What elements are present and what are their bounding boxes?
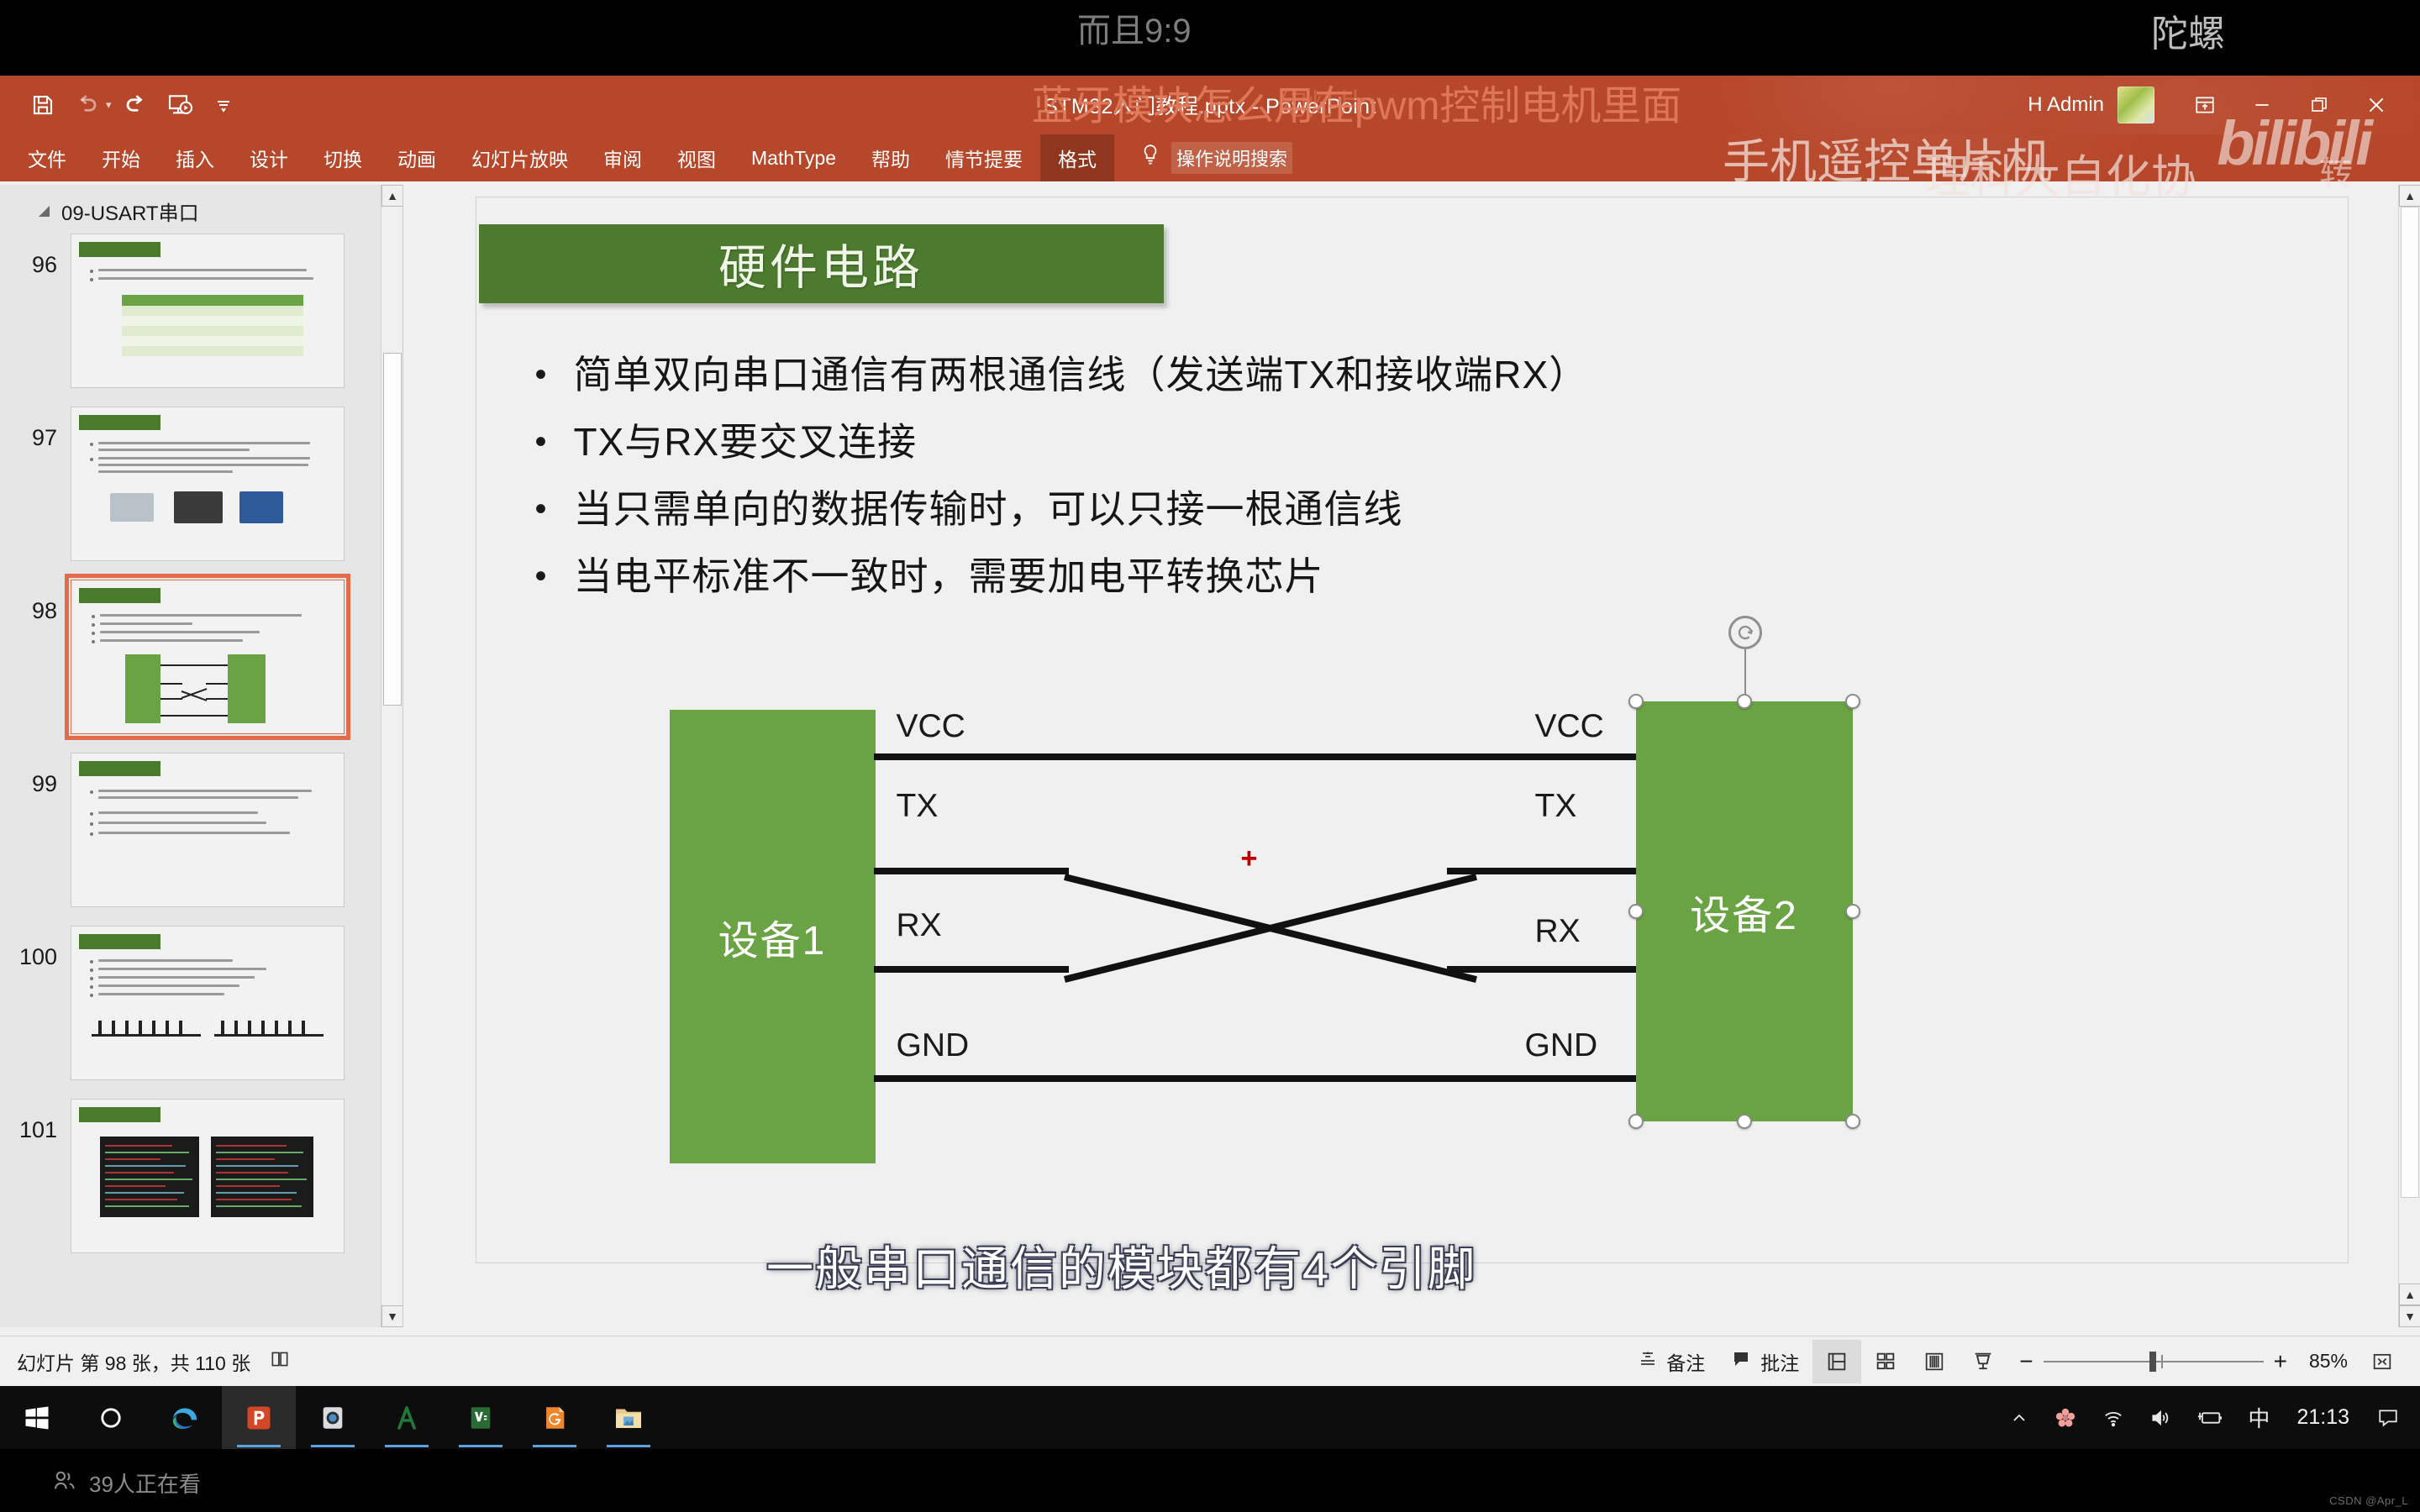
bullet-text: 简单双向串口通信有两根通信线（发送端TX和接收端RX）	[574, 349, 1589, 401]
danmaku-comment-1: 而且9:9	[1077, 3, 1192, 52]
comments-button[interactable]: 批注	[1718, 1340, 1812, 1383]
fit-to-window-button[interactable]	[2358, 1340, 2407, 1383]
cursor-crosshair-icon: +	[1241, 843, 1258, 875]
tell-me-label: 操作说明搜索	[1171, 142, 1292, 174]
slide-body-text[interactable]: • 简单双向串口通信有两根通信线（发送端TX和接收端RX） • TX与RX要交叉…	[535, 349, 2258, 617]
viewer-count-label: 39人正在看	[89, 1467, 201, 1499]
slide-thumbnail-101[interactable]	[71, 1099, 345, 1253]
slide-number: 101	[0, 1099, 71, 1143]
resize-handle-l[interactable]	[1628, 904, 1644, 919]
customize-qat-icon[interactable]	[204, 86, 243, 124]
danmaku-comment-4: 幻灯片	[1277, 81, 1368, 124]
bullet-item: • 简单双向串口通信有两根通信线（发送端TX和接收端RX）	[535, 349, 2258, 401]
rotate-handle[interactable]	[1728, 616, 1762, 649]
save-icon[interactable]	[24, 86, 62, 124]
running-indicator	[533, 1445, 576, 1447]
zoom-level-label[interactable]: 85%	[2299, 1350, 2358, 1373]
scroll-down-button[interactable]: ▼	[381, 1305, 403, 1327]
device-2-shape[interactable]: 设备2	[1636, 701, 1853, 1121]
resize-handle-t[interactable]	[1737, 694, 1752, 709]
slide-thumbnail-98[interactable]	[71, 580, 345, 734]
section-header[interactable]: 09-USART串口	[0, 185, 402, 233]
next-slide-button[interactable]: ▼	[2399, 1305, 2420, 1327]
slide-sorter-view-button[interactable]	[1861, 1340, 1910, 1383]
gif-app-icon[interactable]	[518, 1386, 592, 1449]
camera-app-icon[interactable]	[296, 1386, 370, 1449]
resize-handle-r[interactable]	[1845, 904, 1860, 919]
slide-editing-pane: 硬件电路 • 简单双向串口通信有两根通信线（发送端TX和接收端RX） • TX与…	[403, 185, 2420, 1327]
tab-file[interactable]: 文件	[10, 134, 84, 181]
start-slideshow-icon[interactable]	[160, 86, 199, 124]
slide-thumbnail-99[interactable]	[71, 753, 345, 907]
corner-watermark: CSDN @Apr_L	[2329, 1494, 2408, 1507]
scrollbar-thumb[interactable]	[383, 353, 402, 706]
slide-number: 98	[0, 580, 71, 624]
danmaku-comment-6: 理科大自化协	[1924, 139, 2196, 206]
tab-home[interactable]: 开始	[84, 134, 158, 181]
slide-canvas[interactable]: 硬件电路 • 简单双向串口通信有两根通信线（发送端TX和接收端RX） • TX与…	[476, 197, 2349, 1263]
list-item[interactable]: 99	[0, 753, 378, 907]
battery-charging-icon[interactable]	[2184, 1386, 2236, 1449]
pin-label-gnd-left: GND	[897, 1027, 970, 1064]
comment-icon	[1732, 1349, 1752, 1374]
undo-dropdown-icon[interactable]: ▾	[106, 98, 112, 112]
thumbnail-scrollbar[interactable]: ▲ ▼	[381, 185, 402, 1327]
tab-design[interactable]: 设计	[232, 134, 306, 181]
danmaku-comment-2: 陀螺	[2151, 3, 2225, 57]
running-indicator	[607, 1445, 650, 1447]
tell-me-search[interactable]: 操作说明搜索	[1114, 134, 1307, 181]
wire-rx-left	[874, 966, 1069, 973]
crossed-wires	[1065, 874, 1434, 1021]
resize-handle-b[interactable]	[1737, 1114, 1752, 1129]
slide-title-text: 硬件电路	[718, 229, 923, 298]
start-button[interactable]	[0, 1386, 74, 1449]
visio-app-icon[interactable]	[444, 1386, 518, 1449]
slide-counter: 幻灯片 第 98 张，共 110 张	[17, 1347, 250, 1376]
wire-gnd	[874, 1075, 1644, 1082]
resize-handle-br[interactable]	[1845, 1114, 1860, 1129]
tab-animations[interactable]: 动画	[380, 134, 454, 181]
previous-slide-button[interactable]: ▲	[2399, 1284, 2420, 1305]
slide-number: 100	[0, 926, 71, 970]
slide-thumbnail-96[interactable]	[71, 234, 345, 388]
zoom-out-button[interactable]: −	[2019, 1348, 2033, 1375]
pin-label-rx-right: RX	[1535, 913, 1581, 950]
action-center-icon[interactable]	[2365, 1386, 2412, 1449]
tab-help[interactable]: 帮助	[854, 134, 928, 181]
slide-thumbnail-97[interactable]	[71, 407, 345, 561]
running-indicator	[459, 1445, 502, 1447]
device-1-label: 设备1	[718, 907, 827, 966]
slide-thumbnail-pane[interactable]: 09-USART串口 96	[0, 185, 403, 1327]
list-item[interactable]: 101	[0, 1099, 378, 1253]
slide-number: 97	[0, 407, 71, 451]
cortana-search-button[interactable]	[74, 1386, 148, 1449]
status-bar-right: 备注 批注	[1624, 1340, 2420, 1383]
device-1-shape[interactable]: 设备1	[670, 710, 876, 1163]
bullet-marker: •	[535, 483, 574, 535]
people-icon	[52, 1469, 77, 1497]
video-subtitle: 一般串口通信的模块都有4个引脚	[766, 1231, 1476, 1299]
tab-slideshow[interactable]: 幻灯片放映	[454, 134, 586, 181]
tab-format[interactable]: 格式	[1040, 134, 1114, 181]
section-collapse-icon[interactable]	[39, 206, 50, 217]
wire-tx-right	[1447, 868, 1644, 874]
taskbar-items	[0, 1386, 665, 1449]
reading-view-button[interactable]	[1910, 1340, 1959, 1383]
slide-number: 99	[0, 753, 71, 797]
pin-label-vcc-left: VCC	[897, 708, 965, 745]
bullet-marker: •	[535, 416, 574, 468]
slideshow-view-button[interactable]	[1959, 1340, 2007, 1383]
tab-mathtype[interactable]: MathType	[734, 134, 854, 181]
avatar[interactable]	[2117, 87, 2154, 123]
list-item[interactable]: 97	[0, 407, 378, 561]
section-name: 09-USART串口	[61, 197, 199, 226]
comments-label: 批注	[1760, 1347, 1799, 1376]
wire-tx-left	[874, 868, 1069, 874]
tab-review[interactable]: 审阅	[586, 134, 660, 181]
list-item[interactable]: 98	[0, 580, 378, 734]
tab-storyboard[interactable]: 情节提要	[928, 134, 1040, 181]
redo-icon[interactable]	[117, 86, 155, 124]
slide-thumbnail-100[interactable]	[71, 926, 345, 1080]
bilibili-watermark: bilibili	[2217, 108, 2370, 179]
resize-handle-bl[interactable]	[1628, 1114, 1644, 1129]
bullet-text: 当只需单向的数据传输时，可以只接一根通信线	[574, 483, 1403, 535]
running-indicator	[311, 1445, 355, 1447]
viewer-count: 39人正在看	[52, 1467, 201, 1499]
volume-icon[interactable]	[2137, 1386, 2184, 1449]
notes-label: 备注	[1666, 1347, 1705, 1376]
serial-wiring-diagram: 设备1 VCC VCC TX TX RX	[670, 693, 1871, 1214]
show-hidden-icons-button[interactable]	[1997, 1386, 2041, 1449]
pin-label-gnd-right: GND	[1525, 1027, 1598, 1064]
account-name[interactable]: H Admin	[2028, 93, 2104, 117]
slide-scroll-up-button[interactable]: ▲	[2399, 185, 2420, 207]
resize-handle-tr[interactable]	[1845, 694, 1860, 709]
windows-taskbar: 中 21:13	[0, 1386, 2420, 1449]
spellcheck-icon[interactable]	[269, 1348, 291, 1375]
tab-insert[interactable]: 插入	[158, 134, 232, 181]
ime-language-icon[interactable]: 中	[2236, 1386, 2281, 1449]
bullet-marker: •	[535, 349, 574, 401]
bullet-text: 当电平标准不一致时，需要加电平转换芯片	[574, 550, 1324, 602]
taskbar-clock[interactable]: 21:13	[2281, 1405, 2365, 1430]
zoom-track[interactable]	[2044, 1361, 2264, 1362]
wire-vcc	[874, 753, 1644, 760]
zoom-thumb[interactable]	[2149, 1352, 2156, 1372]
flower-app-icon[interactable]	[2041, 1386, 2090, 1449]
powerpoint-app-icon[interactable]	[222, 1386, 296, 1449]
notes-button[interactable]: 备注	[1624, 1340, 1718, 1383]
running-indicator	[385, 1445, 429, 1447]
video-letterbox-bottom	[0, 1449, 2420, 1512]
running-indicator	[237, 1445, 281, 1447]
tab-transitions[interactable]: 切换	[306, 134, 380, 181]
status-bar: 幻灯片 第 98 张，共 110 张 备注	[0, 1336, 2420, 1386]
bullet-item: • TX与RX要交叉连接	[535, 416, 2258, 468]
notes-icon	[1638, 1349, 1658, 1374]
wifi-icon[interactable]	[2090, 1386, 2137, 1449]
quick-access-toolbar: ▾	[0, 86, 243, 124]
list-item[interactable]: 100	[0, 926, 378, 1080]
device-2-label: 设备2	[1690, 882, 1798, 941]
zoom-in-button[interactable]: +	[2274, 1348, 2287, 1375]
pin-label-rx-left: RX	[897, 907, 942, 944]
pin-label-tx-left: TX	[897, 788, 939, 825]
screen-root: ▾	[0, 0, 2420, 1512]
slide-title-banner[interactable]: 硬件电路	[479, 224, 1164, 303]
normal-view-button[interactable]	[1812, 1340, 1861, 1383]
file-explorer-icon[interactable]	[592, 1386, 665, 1449]
bullet-text: TX与RX要交叉连接	[574, 416, 918, 468]
wire-rx-right	[1447, 966, 1644, 973]
zoom-slider[interactable]: − +	[2007, 1348, 2299, 1375]
list-item[interactable]: 96	[0, 234, 378, 388]
slide-number: 96	[0, 234, 71, 278]
bullet-item: • 当只需单向的数据传输时，可以只接一根通信线	[535, 483, 2258, 535]
zoom-default-tick	[2161, 1355, 2163, 1368]
status-bar-left: 幻灯片 第 98 张，共 110 张	[0, 1347, 291, 1376]
autodesk-app-icon[interactable]	[370, 1386, 444, 1449]
bullet-marker: •	[535, 550, 574, 602]
slide-scrollbar-thumb[interactable]	[2401, 207, 2419, 1198]
pin-label-vcc-right: VCC	[1535, 708, 1604, 745]
video-letterbox-top	[0, 0, 2420, 76]
pin-label-tx-right: TX	[1535, 788, 1577, 825]
scroll-up-button[interactable]: ▲	[381, 185, 403, 207]
tab-view[interactable]: 视图	[660, 134, 734, 181]
undo-icon[interactable]	[67, 86, 106, 124]
slide-scrollbar[interactable]: ▲ ▲ ▼	[2398, 185, 2420, 1327]
system-tray: 中 21:13	[1997, 1386, 2420, 1449]
powerpoint-window: ▾	[0, 76, 2420, 1386]
resize-handle-tl[interactable]	[1628, 694, 1644, 709]
lightbulb-icon	[1139, 143, 1161, 174]
editor-body: 09-USART串口 96	[0, 185, 2420, 1327]
bullet-item: • 当电平标准不一致时，需要加电平转换芯片	[535, 550, 2258, 602]
edge-browser-icon[interactable]	[148, 1386, 222, 1449]
thumbnail-list: 96	[0, 234, 378, 1327]
